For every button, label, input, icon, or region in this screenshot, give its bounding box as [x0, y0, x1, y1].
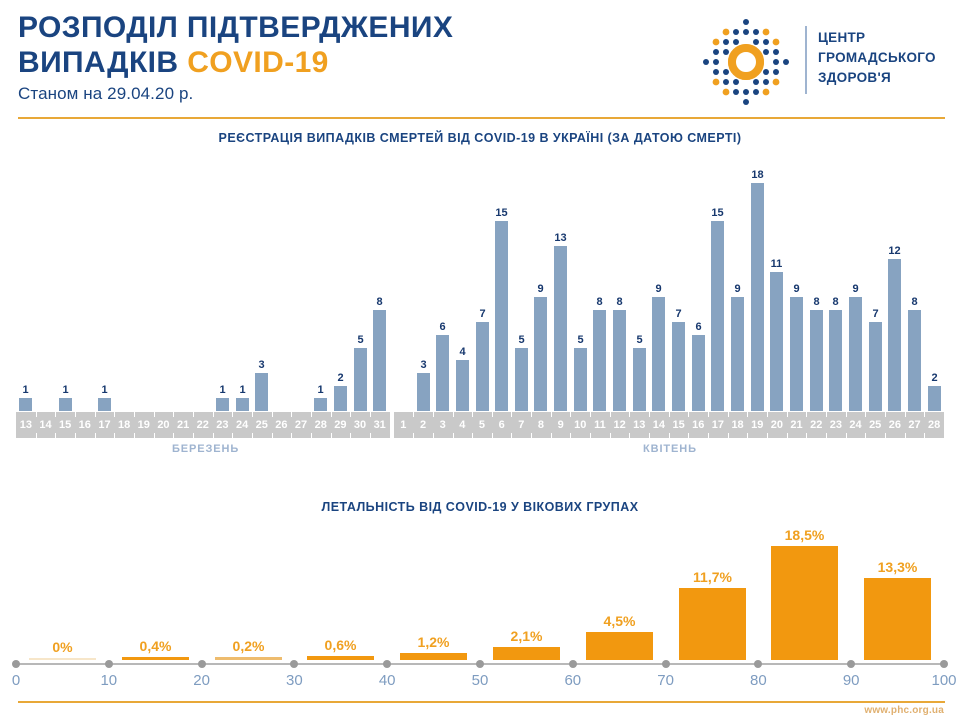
x-axis-day-label: 15 [669, 412, 689, 438]
deaths-bar [255, 373, 268, 411]
month-caption: БЕРЕЗЕНЬ [172, 443, 239, 455]
age-fatality-bar-column: 0,6% [307, 637, 374, 660]
deaths-bar [652, 297, 665, 411]
page-title-line-1: РОЗПОДІЛ ПІДТВЕРДЖЕНИХ [18, 10, 638, 45]
age-fatality-value-label: 11,7% [693, 569, 732, 586]
age-axis-tick-label: 60 [553, 672, 593, 689]
deaths-bar-value-label: 1 [317, 384, 323, 397]
age-axis-tick-dot [290, 660, 298, 668]
deaths-bar-column: 4 [456, 346, 469, 411]
deaths-bar [236, 398, 249, 411]
deaths-bar [751, 183, 764, 411]
deaths-bar-column: 6 [692, 321, 705, 411]
deaths-chart-x-axis: 1314151617181920212223242526272829303112… [16, 412, 944, 438]
age-axis-tick-dot [383, 660, 391, 668]
x-axis-day-label: 1 [394, 412, 414, 438]
age-fatality-value-label: 18,5% [785, 527, 825, 544]
deaths-bar-column: 3 [255, 359, 268, 411]
x-axis-day-label: 29 [331, 412, 351, 438]
deaths-bar-value-label: 1 [239, 384, 245, 397]
deaths-bar-column: 5 [633, 334, 646, 411]
x-axis-day-label: 20 [767, 412, 787, 438]
phc-dot-diamond-logo-icon [700, 16, 792, 108]
x-axis-day-label: 26 [272, 412, 292, 438]
deaths-bar-column: 9 [790, 283, 803, 411]
age-axis-tick-label: 80 [738, 672, 778, 689]
age-axis-tick-label: 20 [182, 672, 222, 689]
deaths-bar-column: 2 [334, 372, 347, 411]
deaths-bar-value-label: 8 [911, 296, 917, 309]
deaths-bar-column: 1 [216, 384, 229, 411]
title-block: РОЗПОДІЛ ПІДТВЕРДЖЕНИХ ВИПАДКІВ COVID-19… [18, 10, 638, 104]
x-axis-day-label: 24 [232, 412, 252, 438]
deaths-bar [928, 386, 941, 411]
x-axis-day-label: 4 [453, 412, 473, 438]
deaths-bar-column: 15 [495, 207, 508, 411]
x-axis-day-label: 3 [433, 412, 453, 438]
logo-wordmark-line-3: ЗДОРОВ'Я [818, 68, 936, 88]
deaths-bar-column: 9 [652, 283, 665, 411]
age-fatality-plot-area: 0%0,4%0,2%0,6%1,2%2,1%4,5%11,7%18,5%13,3… [16, 524, 944, 660]
deaths-bar [314, 398, 327, 411]
deaths-chart-title: РЕЄСТРАЦІЯ ВИПАДКІВ СМЕРТЕЙ ВІД COVID-19… [0, 131, 960, 145]
age-fatality-bar-column: 18,5% [771, 527, 838, 660]
x-axis-day-label: 21 [173, 412, 193, 438]
deaths-bar-value-label: 8 [616, 296, 622, 309]
age-axis-tick-label: 0 [0, 672, 36, 689]
age-axis-tick-dot [754, 660, 762, 668]
deaths-bar [731, 297, 744, 411]
x-axis-day-label: 26 [885, 412, 905, 438]
deaths-bar-value-label: 2 [337, 372, 343, 385]
x-axis-day-label: 30 [350, 412, 370, 438]
deaths-bar-column: 6 [436, 321, 449, 411]
page-title-line-2-prefix: ВИПАДКІВ [18, 46, 187, 79]
x-axis-day-label: 13 [629, 412, 649, 438]
deaths-bar [515, 348, 528, 411]
x-axis-day-label: 14 [649, 412, 669, 438]
page-header: РОЗПОДІЛ ПІДТВЕРДЖЕНИХ ВИПАДКІВ COVID-19… [0, 0, 960, 119]
age-fatality-value-label: 0,4% [140, 638, 172, 655]
deaths-bar [770, 272, 783, 411]
deaths-bar-column: 1 [98, 384, 111, 411]
age-fatality-chart-title: ЛЕТАЛЬНІСТЬ ВІД COVID-19 У ВІКОВИХ ГРУПА… [0, 500, 960, 514]
x-axis-day-label: 16 [75, 412, 95, 438]
age-fatality-value-label: 0,6% [325, 637, 357, 654]
x-axis-day-label: 10 [570, 412, 590, 438]
x-axis-day-label: 28 [311, 412, 331, 438]
deaths-bar [633, 348, 646, 411]
age-axis-tick-dot [198, 660, 206, 668]
footer-divider-rule [18, 701, 945, 703]
deaths-bar [436, 335, 449, 411]
deaths-bar-column: 1 [314, 384, 327, 411]
deaths-bar-column: 1 [59, 384, 72, 411]
logo-wordmark-line-2: ГРОМАДСЬКОГО [818, 48, 936, 68]
x-axis-day-label: 31 [370, 412, 390, 438]
deaths-bar-value-label: 8 [596, 296, 602, 309]
x-axis-day-label: 27 [291, 412, 311, 438]
age-axis-tick-label: 70 [646, 672, 686, 689]
age-fatality-bar-column: 1,2% [400, 634, 467, 660]
page-title-line-2: ВИПАДКІВ COVID-19 [18, 45, 638, 80]
deaths-bar-value-label: 5 [357, 334, 363, 347]
deaths-bar-value-label: 1 [62, 384, 68, 397]
x-axis-day-label: 17 [708, 412, 728, 438]
deaths-bar-value-label: 6 [695, 321, 701, 334]
deaths-bar-column: 5 [515, 334, 528, 411]
x-axis-day-label: 17 [95, 412, 115, 438]
x-axis-day-label: 27 [905, 412, 925, 438]
age-axis-tick-dot [940, 660, 948, 668]
age-axis-tick-label: 50 [460, 672, 500, 689]
deaths-bar-column: 12 [888, 245, 901, 411]
age-fatality-value-label: 13,3% [878, 559, 918, 576]
x-axis-day-label: 23 [826, 412, 846, 438]
x-axis-day-label: 20 [154, 412, 174, 438]
deaths-bar-value-label: 8 [376, 296, 382, 309]
deaths-bar [711, 221, 724, 411]
deaths-bar-value-label: 7 [872, 308, 878, 321]
age-axis-tick-label: 100 [924, 672, 960, 689]
x-axis-day-label: 7 [511, 412, 531, 438]
x-axis-day-label: 18 [114, 412, 134, 438]
deaths-bar [417, 373, 430, 411]
deaths-bar [334, 386, 347, 411]
age-fatality-bar-column: 0,2% [215, 638, 282, 660]
deaths-bar-value-label: 5 [577, 334, 583, 347]
deaths-bar-value-label: 9 [537, 283, 543, 296]
age-axis-tick-dot [662, 660, 670, 668]
x-axis-day-label: 9 [551, 412, 571, 438]
footer-website-url: www.phc.org.ua [864, 705, 944, 716]
deaths-bar-value-label: 12 [888, 245, 900, 258]
deaths-bar-value-label: 7 [675, 308, 681, 321]
x-axis-day-label: 16 [688, 412, 708, 438]
deaths-bar [354, 348, 367, 411]
deaths-bar-column: 8 [829, 296, 842, 411]
age-fatality-bar [679, 588, 746, 660]
deaths-bar-column: 7 [476, 308, 489, 411]
age-fatality-bar [400, 653, 467, 660]
x-axis-day-label: 25 [865, 412, 885, 438]
logo-wordmark: ЦЕНТР ГРОМАДСЬКОГО ЗДОРОВ'Я [818, 28, 936, 88]
age-fatality-value-label: 0,2% [233, 638, 265, 655]
age-fatality-bar [493, 647, 560, 660]
deaths-bar [829, 310, 842, 411]
deaths-bar-column: 11 [770, 258, 783, 411]
deaths-bar [790, 297, 803, 411]
deaths-bar-value-label: 5 [636, 334, 642, 347]
age-axis-tick-dot [476, 660, 484, 668]
deaths-bar [495, 221, 508, 411]
deaths-bar-value-label: 3 [420, 359, 426, 372]
deaths-bar-column: 8 [810, 296, 823, 411]
deaths-bar-value-label: 9 [655, 283, 661, 296]
age-fatality-bar-column: 2,1% [493, 628, 560, 660]
deaths-chart-plot-area: 1111131258364715591358859761591811988971… [16, 161, 944, 411]
header-divider-rule [18, 117, 945, 119]
x-axis-day-label: 22 [193, 412, 213, 438]
deaths-bar-value-label: 8 [813, 296, 819, 309]
x-axis-day-label: 19 [134, 412, 154, 438]
deaths-bar-value-label: 11 [771, 258, 783, 271]
deaths-bar-value-label: 8 [832, 296, 838, 309]
age-fatality-value-label: 0% [52, 639, 72, 656]
deaths-bar [593, 310, 606, 411]
deaths-bar [554, 246, 567, 411]
deaths-bar-column: 8 [908, 296, 921, 411]
age-axis-tick-label: 30 [274, 672, 314, 689]
deaths-bar [869, 322, 882, 411]
x-axis-day-label: 23 [213, 412, 233, 438]
age-axis-tick-dot [569, 660, 577, 668]
x-axis-day-label: 22 [806, 412, 826, 438]
deaths-bar-value-label: 15 [495, 207, 507, 220]
x-axis-day-label: 11 [590, 412, 610, 438]
deaths-bar-value-label: 9 [734, 283, 740, 296]
deaths-bar-column: 2 [928, 372, 941, 411]
deaths-bar-value-label: 18 [751, 169, 763, 182]
deaths-bar [59, 398, 72, 411]
age-fatality-x-axis [16, 660, 944, 668]
deaths-bar-value-label: 1 [219, 384, 225, 397]
deaths-bar-value-label: 4 [459, 346, 465, 359]
x-axis-day-label: 19 [747, 412, 767, 438]
deaths-bar-value-label: 7 [479, 308, 485, 321]
deaths-bar [216, 398, 229, 411]
x-axis-day-label: 14 [36, 412, 56, 438]
deaths-bar [98, 398, 111, 411]
deaths-bar-column: 9 [534, 283, 547, 411]
deaths-bar-column: 8 [613, 296, 626, 411]
deaths-bar-column: 13 [554, 232, 567, 411]
age-axis-tick-dot [847, 660, 855, 668]
deaths-bar-column: 3 [417, 359, 430, 411]
x-axis-day-label: 28 [924, 412, 944, 438]
age-fatality-chart: ЛЕТАЛЬНІСТЬ ВІД COVID-19 У ВІКОВИХ ГРУПА… [0, 500, 960, 700]
deaths-bar-value-label: 13 [554, 232, 566, 245]
deaths-bar [456, 360, 469, 411]
deaths-bar-value-label: 2 [931, 372, 937, 385]
deaths-bar-value-label: 9 [852, 283, 858, 296]
deaths-bar [810, 310, 823, 411]
age-axis-tick-label: 90 [831, 672, 871, 689]
age-fatality-bar [771, 546, 838, 660]
age-fatality-bar [864, 578, 931, 660]
logo-wordmark-line-1: ЦЕНТР [818, 28, 936, 48]
deaths-bar-column: 1 [19, 384, 32, 411]
deaths-bar-column: 15 [711, 207, 724, 411]
age-axis-tick-label: 40 [367, 672, 407, 689]
age-fatality-bar-column: 4,5% [586, 613, 653, 660]
age-fatality-value-label: 1,2% [418, 634, 450, 651]
deaths-bar-value-label: 3 [258, 359, 264, 372]
deaths-bar [574, 348, 587, 411]
x-axis-day-label: 8 [531, 412, 551, 438]
deaths-bar [613, 310, 626, 411]
age-fatality-value-label: 4,5% [604, 613, 636, 630]
deaths-bar-column: 9 [849, 283, 862, 411]
age-axis-tick-dot [12, 660, 20, 668]
age-fatality-value-label: 2,1% [511, 628, 543, 645]
deaths-bar-column: 5 [354, 334, 367, 411]
deaths-bar [888, 259, 901, 411]
deaths-bar-value-label: 9 [793, 283, 799, 296]
page-subtitle-date: Станом на 29.04.20 р. [18, 84, 638, 104]
deaths-bar [849, 297, 862, 411]
age-axis-tick-label: 10 [89, 672, 129, 689]
x-axis-day-label: 6 [492, 412, 512, 438]
x-axis-day-label: 24 [846, 412, 866, 438]
month-caption: КВІТЕНЬ [643, 443, 697, 455]
deaths-bar-column: 7 [869, 308, 882, 411]
age-fatality-bar-column: 13,3% [864, 559, 931, 660]
deaths-bar-value-label: 15 [711, 207, 723, 220]
x-axis-day-label: 2 [413, 412, 433, 438]
deaths-bar [672, 322, 685, 411]
deaths-bar-column: 8 [373, 296, 386, 411]
deaths-bar-column: 18 [751, 169, 764, 411]
x-axis-day-label: 25 [252, 412, 272, 438]
deaths-bar-column: 8 [593, 296, 606, 411]
deaths-bar [19, 398, 32, 411]
deaths-by-date-chart: РЕЄСТРАЦІЯ ВИПАДКІВ СМЕРТЕЙ ВІД COVID-19… [0, 131, 960, 476]
deaths-bar [908, 310, 921, 411]
deaths-bar-value-label: 1 [101, 384, 107, 397]
organization-logo: ЦЕНТР ГРОМАДСЬКОГО ЗДОРОВ'Я [700, 14, 948, 106]
age-fatality-bar-column: 0,4% [122, 638, 189, 660]
deaths-bar-column: 5 [574, 334, 587, 411]
age-axis-tick-dot [105, 660, 113, 668]
deaths-bar-column: 1 [236, 384, 249, 411]
age-fatality-bar-column: 0% [29, 639, 96, 660]
age-fatality-bar [586, 632, 653, 660]
page-title-covid-highlight: COVID-19 [187, 46, 329, 79]
deaths-bar [373, 310, 386, 411]
x-axis-day-label: 12 [610, 412, 630, 438]
deaths-bar-value-label: 6 [439, 321, 445, 334]
age-fatality-bar-column: 11,7% [679, 569, 746, 660]
deaths-bar-column: 9 [731, 283, 744, 411]
deaths-bar-value-label: 5 [518, 334, 524, 347]
deaths-bar-column: 7 [672, 308, 685, 411]
x-axis-day-label: 5 [472, 412, 492, 438]
deaths-bar-value-label: 1 [22, 384, 28, 397]
x-axis-day-label: 15 [55, 412, 75, 438]
x-axis-day-label: 18 [728, 412, 748, 438]
deaths-bar [476, 322, 489, 411]
logo-divider [805, 26, 807, 94]
deaths-bar [692, 335, 705, 411]
x-axis-day-label: 13 [16, 412, 36, 438]
deaths-bar [534, 297, 547, 411]
x-axis-day-label: 21 [787, 412, 807, 438]
